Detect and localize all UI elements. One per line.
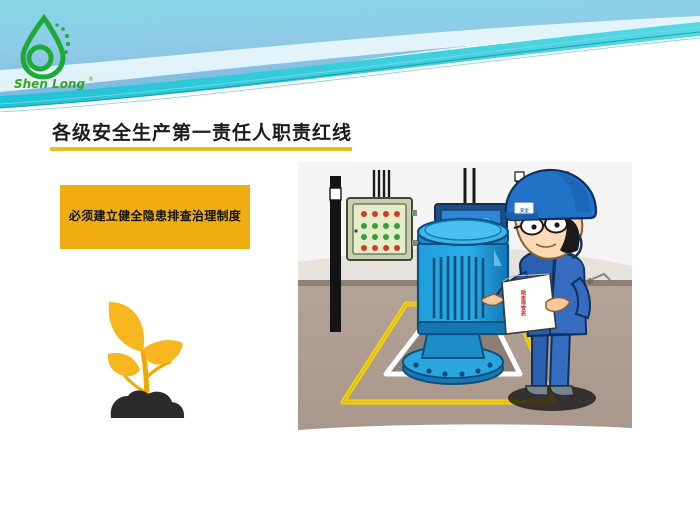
soil-mound [111,390,184,418]
pipe-column-lower [330,294,341,332]
slide-root: Shen Long ® 各级安全生产第一责任人职责红线 必须建立健全隐患排查治理… [0,0,700,525]
checklist-paper-text: 隐患排查表 [513,290,525,316]
motor-base-band [418,322,508,334]
callout-text: 必须建立健全隐患排查治理制度 [69,208,241,225]
page-title: 各级安全生产第一责任人职责红线 [52,118,352,145]
logo-wordmark: Shen Long [14,77,85,90]
shen-long-logo: Shen Long ® [10,12,106,90]
safety-inspection-illustration: 隐患排查表 安全 [298,162,632,442]
helmet-badge-text: 安全 [520,208,529,214]
sprout-leaf-top [109,302,144,352]
growing-sprout-graphic [86,282,208,418]
worker-leg-left [532,330,548,386]
green-control-panel [347,198,417,260]
sprout-leaf-left [108,353,140,376]
droplet-ring [29,47,51,69]
worker-eye-right [554,222,559,227]
logo-trademark: ® [88,76,94,83]
title-underline [50,147,352,151]
sprout-leaf-right [144,340,183,365]
pipe-collar [330,188,341,200]
worker-leg-right [550,330,570,386]
worker-eye-left [531,224,536,229]
callout-box: 必须建立健全隐患排查治理制度 [60,185,250,249]
sprout-branch-left [125,376,145,392]
